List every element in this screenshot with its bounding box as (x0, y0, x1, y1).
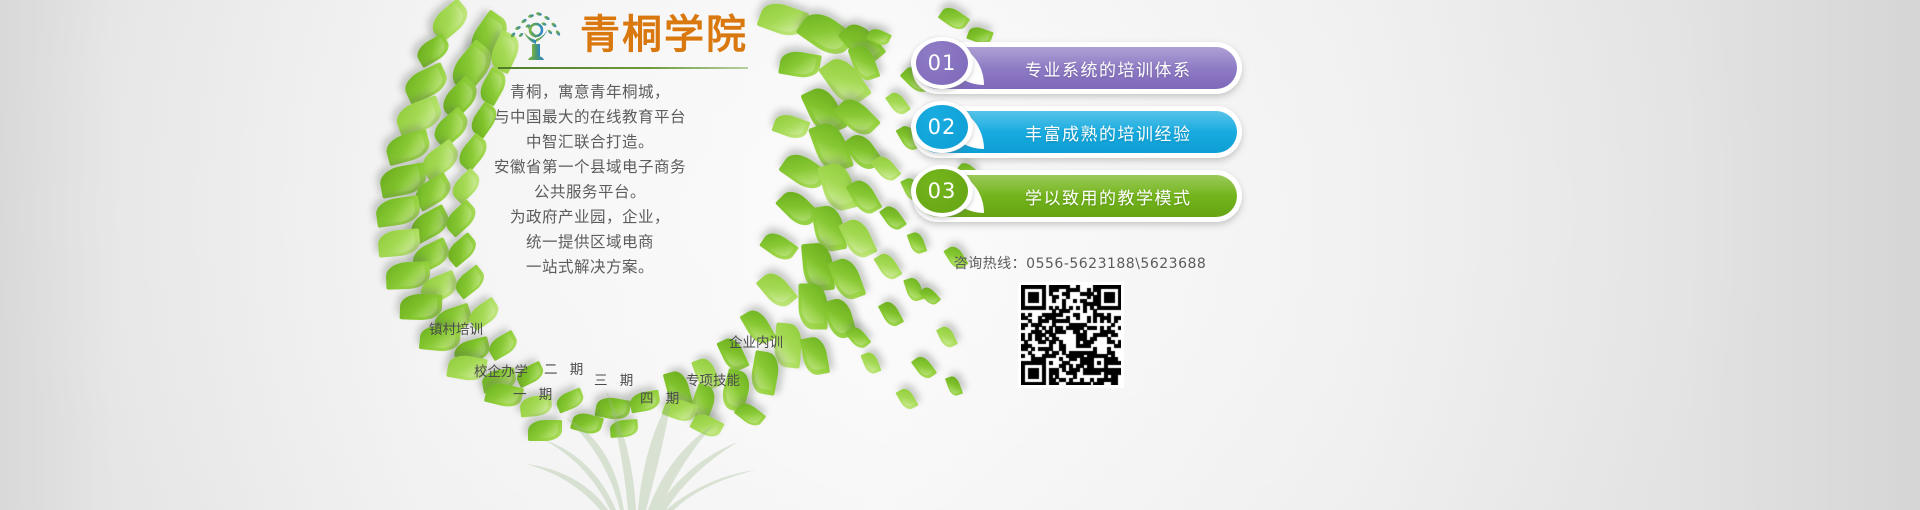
term-label-1: 一 期 (513, 383, 556, 403)
term-label-4: 四 期 (640, 387, 683, 407)
leaf (936, 324, 958, 350)
leaf (771, 111, 810, 142)
leaf (919, 285, 941, 308)
leaf (778, 49, 822, 81)
leaf (895, 386, 918, 412)
brand-name: 青桐学院 (580, 13, 748, 57)
leaf (374, 195, 421, 228)
leaf (838, 18, 887, 69)
category-label-xiaoqi: 校企办学 (474, 360, 528, 380)
brand-logo: 青桐学院 (498, 6, 748, 69)
intro-line-4: 安徽省第一个县域电子商务 (430, 155, 750, 180)
leaf (413, 33, 453, 68)
term-label-2: 二 期 (544, 358, 587, 378)
leaf (485, 330, 520, 361)
leaf (800, 335, 830, 377)
leaf (759, 228, 799, 265)
leaf (866, 26, 892, 48)
feature-label-01: 专业系统的培训体系 (1025, 56, 1223, 81)
leaf (907, 230, 928, 255)
leaf (427, 0, 474, 43)
feature-item-01[interactable]: 专业系统的培训体系 01 (912, 42, 1242, 94)
feature-number-02: 02 (916, 105, 968, 149)
logo-divider (498, 67, 748, 69)
leaf (945, 375, 963, 398)
feature-label-03: 学以致用的教学模式 (1025, 184, 1223, 209)
term-label-3: 三 期 (594, 369, 637, 389)
intro-paragraph: 青桐，寓意青年桐城，与中国最大的在线教育平台中智汇联合打造。安徽省第一个县域电子… (430, 80, 750, 280)
feature-item-03[interactable]: 学以致用的教学模式 03 (912, 170, 1242, 222)
intro-line-3: 中智汇联合打造。 (430, 130, 750, 155)
feature-number-badge-02: 02 (911, 101, 973, 153)
feature-item-02[interactable]: 丰富成熟的培训经验 02 (912, 106, 1242, 158)
leaf (911, 353, 937, 381)
intro-line-7: 统一提供区域电商 (430, 230, 750, 255)
leaf (383, 129, 432, 166)
leaf (818, 52, 872, 111)
hotline-text: 咨询热线：0556-5623188\5623688 (900, 253, 1260, 273)
leaf (756, 268, 799, 313)
leaf (799, 284, 828, 330)
intro-line-1: 青桐，寓意青年桐城， (430, 80, 750, 105)
intro-line-6: 为政府产业园，企业， (430, 205, 750, 230)
leaf (801, 242, 835, 292)
leaf (811, 203, 848, 253)
leaf (938, 4, 971, 34)
leaf (778, 148, 830, 195)
feature-number-01: 01 (916, 41, 968, 85)
feature-number-badge-01: 01 (911, 37, 973, 89)
leaf (808, 119, 854, 177)
leaf (885, 89, 911, 117)
leaf (756, 0, 809, 41)
leaf (838, 215, 878, 262)
leaf (842, 130, 883, 175)
leaf (903, 276, 925, 303)
leaf (873, 250, 902, 283)
leaf (823, 296, 858, 341)
qr-code[interactable] (1018, 282, 1124, 388)
leaf (800, 83, 847, 139)
leaf (378, 162, 428, 199)
leaf (845, 176, 882, 218)
leaf (775, 186, 821, 232)
feature-number-badge-03: 03 (911, 165, 973, 217)
feature-label-02: 丰富成熟的培训经验 (1025, 120, 1223, 145)
leaf (796, 6, 857, 62)
leaf (400, 293, 443, 320)
leaf (828, 255, 867, 303)
leaf (878, 299, 904, 329)
tree-icon (498, 8, 574, 62)
leaf (386, 261, 431, 290)
intro-line-8: 一站式解决方案。 (430, 255, 750, 280)
feature-list: 专业系统的培训体系 01 丰富成熟的培训经验 02 学以致用的教学模式 03 (912, 42, 1242, 234)
feature-number-03: 03 (916, 169, 968, 213)
leaf (848, 42, 881, 83)
category-label-zhuanxiang: 专项技能 (686, 369, 740, 389)
leaf (870, 152, 901, 184)
category-label-zhencun: 镇村培训 (429, 318, 483, 338)
leaf (845, 323, 872, 351)
leaf (860, 350, 881, 376)
intro-line-2: 与中国最大的在线教育平台 (430, 105, 750, 130)
leaf (817, 160, 858, 214)
leaf (833, 93, 881, 141)
leaf (879, 203, 907, 233)
leaf (377, 228, 421, 258)
banner-root: 青桐学院 青桐，寓意青年桐城，与中国最大的在线教育平台中智汇联合打造。安徽省第一… (0, 0, 1920, 510)
intro-line-5: 公共服务平台。 (430, 180, 750, 205)
category-label-qiye: 企业内训 (729, 331, 783, 351)
